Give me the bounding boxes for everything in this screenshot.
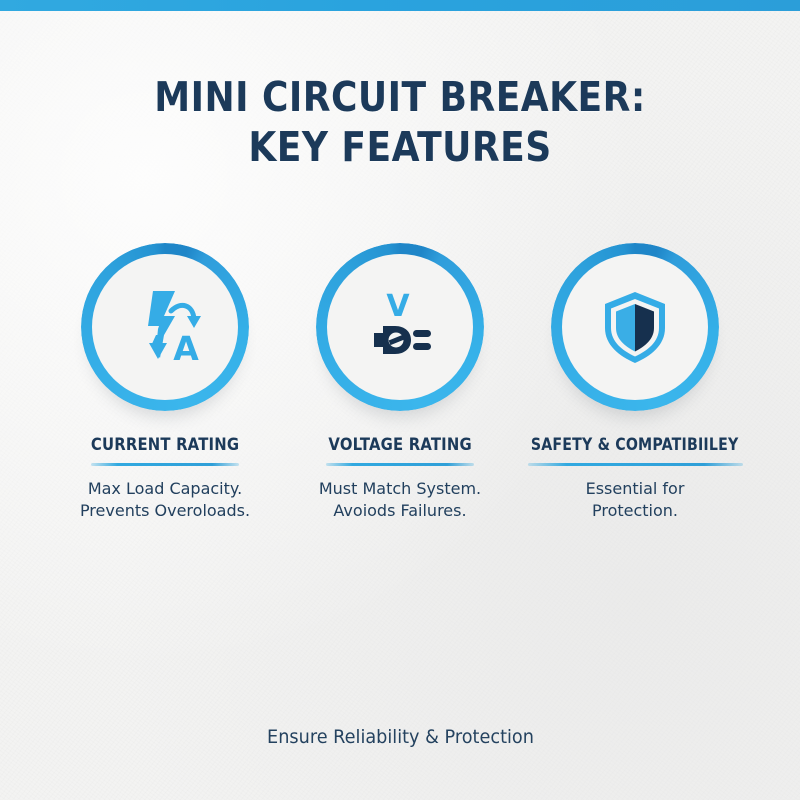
feature-cards-row: A CURRENT RATING Max Load Capacity. Prev…: [0, 243, 800, 522]
footer-tagline: Ensure Reliability & Protection: [267, 726, 534, 748]
card-divider: [528, 463, 743, 466]
card-divider: [326, 463, 474, 466]
icon-ring-voltage-rating: V: [316, 243, 484, 411]
page-title: MINI CIRCUIT BREAKER: KEY FEATURES: [0, 72, 800, 172]
footer: Ensure Reliability & Protection: [0, 726, 800, 748]
card-description-voltage-rating: Must Match System. Avoiods Failures.: [319, 478, 481, 522]
feature-card-voltage-rating: V VOLTAGE RATING Must Match System. A: [283, 243, 518, 522]
card-caption: CURRENT RATING Max Load Capacity. Preven…: [80, 435, 250, 522]
card-description-safety-compatibility: Essential for Protection.: [514, 478, 755, 522]
card-description-current-rating: Max Load Capacity. Prevents Overoloads.: [80, 478, 250, 522]
card-divider: [91, 463, 239, 466]
shield-icon: [590, 282, 680, 372]
card-title-voltage-rating: VOLTAGE RATING: [327, 435, 473, 454]
icon-ring-safety-compatibility: [551, 243, 719, 411]
card-title-current-rating: CURRENT RATING: [88, 435, 241, 454]
card-title-safety-compatibility: SAFETY & COMPATIBIILEY: [531, 435, 739, 454]
title-line-2: KEY FEATURES: [48, 122, 752, 172]
feature-card-safety-compatibility: SAFETY & COMPATIBIILEY Essential for Pro…: [518, 243, 753, 522]
infographic-poster: MINI CIRCUIT BREAKER: KEY FEATURES: [0, 0, 800, 800]
svg-text:A: A: [173, 329, 199, 368]
lightning-bolt-amp-icon: A: [120, 282, 210, 372]
card-caption: SAFETY & COMPATIBIILEY Essential for Pro…: [514, 435, 755, 522]
svg-text:V: V: [386, 289, 410, 324]
top-accent-bar: [0, 0, 800, 11]
title-line-1: MINI CIRCUIT BREAKER:: [48, 72, 752, 122]
card-caption: VOLTAGE RATING Must Match System. Avoiod…: [319, 435, 481, 522]
icon-ring-current-rating: A: [81, 243, 249, 411]
feature-card-current-rating: A CURRENT RATING Max Load Capacity. Prev…: [48, 243, 283, 522]
electrical-plug-volt-icon: V: [355, 282, 445, 372]
